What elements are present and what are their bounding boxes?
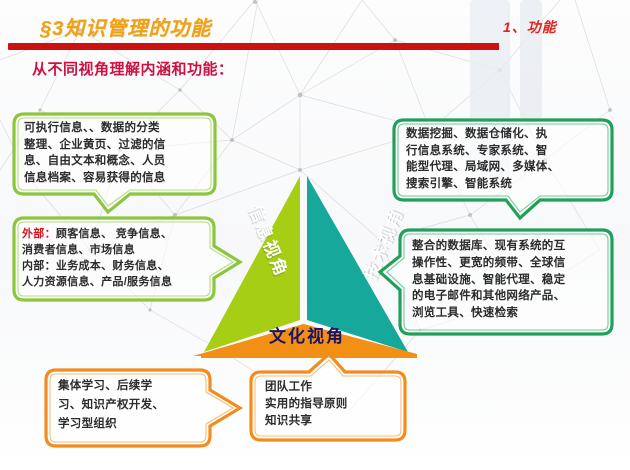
callout-culture-center[interactable]: 团队工作 实用的指导原则 知识共享 [249,352,407,440]
external-label: 外部： [22,228,56,240]
callout-line: 习、知识产权开发、 [58,396,206,415]
callout-line: 整理、企业黄页、过滤的信 [24,137,206,154]
callout-line: 集体学习、后续学 [58,377,206,396]
callout-line: 数据挖掘、数据仓储化、执 [406,126,604,143]
callout-line: 行信息系统、专家系统、智 [406,143,604,160]
callout-text: 集体学习、后续学 习、知识产权开发、 学习型组织 [58,377,206,434]
callout-line: 内部：业务成本、财务信息、 [22,258,214,274]
callout-info-bottom-left[interactable]: 外部：顾客信息、 竞争信息、 消费者信息、市场信息 内部：业务成本、财务信息、 … [12,216,227,302]
callout-line: 整合的数据库、现有系统的互 [412,238,608,255]
callout-line: 信息档案、容易获得的信息 [24,170,206,187]
callout-line: 能型代理、局域网、多媒体、 [406,159,604,176]
callout-line: 搜索引擎、智能系统 [406,176,604,193]
callout-text: 数据挖掘、数据仓储化、执 行信息系统、专家系统、智 能型代理、局域网、多媒体、 … [406,126,604,192]
callout-line: 知识共享 [265,413,397,430]
title-divider-bar [8,43,495,50]
callout-line: 人力资源信息、产品/服务信息 [22,274,214,290]
callout-text: 可执行信息、、数据的分类 整理、企业黄页、过滤的信 息、自由文本和概念、人员 信… [24,120,206,186]
callout-line: 息、自由文本和概念、人员 [24,153,206,170]
callout-line: 浏览工具、快速检索 [412,305,608,322]
slide-canvas: §3知识管理的功能 1、功能 从不同视角理解内涵和功能： 信息视角 技术视角 文… [0,0,630,470]
callout-line: 操作性、更宽的频带、全球信 [412,255,608,272]
callout-tech-bottom-right[interactable]: 整合的数据库、现有系统的互 操作性、更宽的频带、全球信 息基础设施、智能代理、稳… [378,228,614,332]
callout-text: 外部：顾客信息、 竞争信息、 消费者信息、市场信息 内部：业务成本、财务信息、 … [22,226,214,290]
callout-info-top-left[interactable]: 可执行信息、、数据的分类 整理、企业黄页、过滤的信 息、自由文本和概念、人员 信… [12,112,217,194]
triangle-label-culture: 文化视角 [269,322,345,347]
subtitle: 从不同视角理解内涵和功能： [32,58,234,79]
callout-tech-top-right[interactable]: 数据挖掘、数据仓储化、执 行信息系统、专家系统、智 能型代理、局域网、多媒体、 … [392,118,614,200]
callout-line: 可执行信息、、数据的分类 [24,120,206,137]
callout-line: 顾客信息、 竞争信息、 [56,228,172,240]
callout-line: 实用的指导原则 [265,396,397,413]
page-title: §3知识管理的功能 [40,12,211,41]
section-label: 1、功能 [503,17,557,37]
callout-line-external: 外部：顾客信息、 竞争信息、 [22,226,214,242]
callout-text: 整合的数据库、现有系统的互 操作性、更宽的频带、全球信 息基础设施、智能代理、稳… [412,238,608,322]
callout-culture-left[interactable]: 集体学习、后续学 习、知识产权开发、 学习型组织 [44,368,234,440]
callout-line: 息基础设施、智能代理、稳定 [412,272,608,289]
callout-line: 的电子邮件和其他网络产品、 [412,288,608,305]
callout-text: 团队工作 实用的指导原则 知识共享 [265,379,397,430]
callout-line: 消费者信息、市场信息 [22,242,214,258]
callout-line: 团队工作 [265,379,397,396]
callout-line: 学习型组织 [58,415,206,434]
